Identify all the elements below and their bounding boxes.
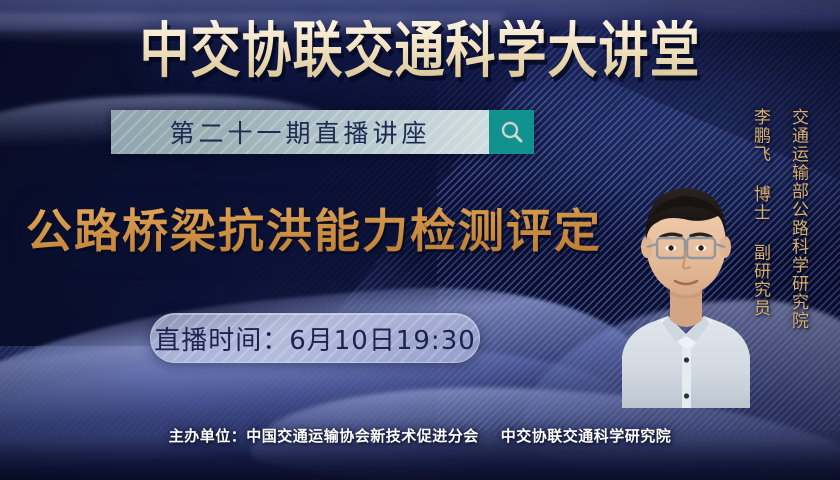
footer-co-host: 中交协联交通科学研究院 [501, 427, 672, 445]
speaker-organization: 交通运输部公路科学研究院 [786, 108, 811, 330]
search-icon [499, 119, 525, 145]
speaker-portrait [606, 120, 766, 408]
subtitle-banner-fill: 第二十一期直播讲座 [111, 110, 489, 154]
search-button[interactable] [489, 110, 534, 154]
footer-organizers: 主办单位：中国交通运输协会新技术促进分会中交协联交通科学研究院 [0, 425, 840, 446]
broadcast-time-badge: 直播时间：6月10日19:30 [150, 313, 480, 363]
broadcast-time-text: 直播时间：6月10日19:30 [154, 320, 476, 357]
page-title: 中交协联交通科学大讲堂 [0, 20, 840, 81]
subtitle-text: 第二十一期直播讲座 [169, 114, 430, 150]
lecture-title: 公路桥梁抗洪能力检测评定 [26, 203, 602, 259]
speaker-name-title: 李鹏飞 博士 副研究员 [748, 108, 773, 318]
footer-host: 主办单位：中国交通运输协会新技术促进分会 [169, 427, 479, 445]
poster-root: 交通运输部公路科学研究院 李鹏飞 博士 副研究员 中交协联交通科学大讲堂 第二十… [0, 0, 840, 480]
subtitle-banner: 第二十一期直播讲座 [111, 110, 534, 154]
